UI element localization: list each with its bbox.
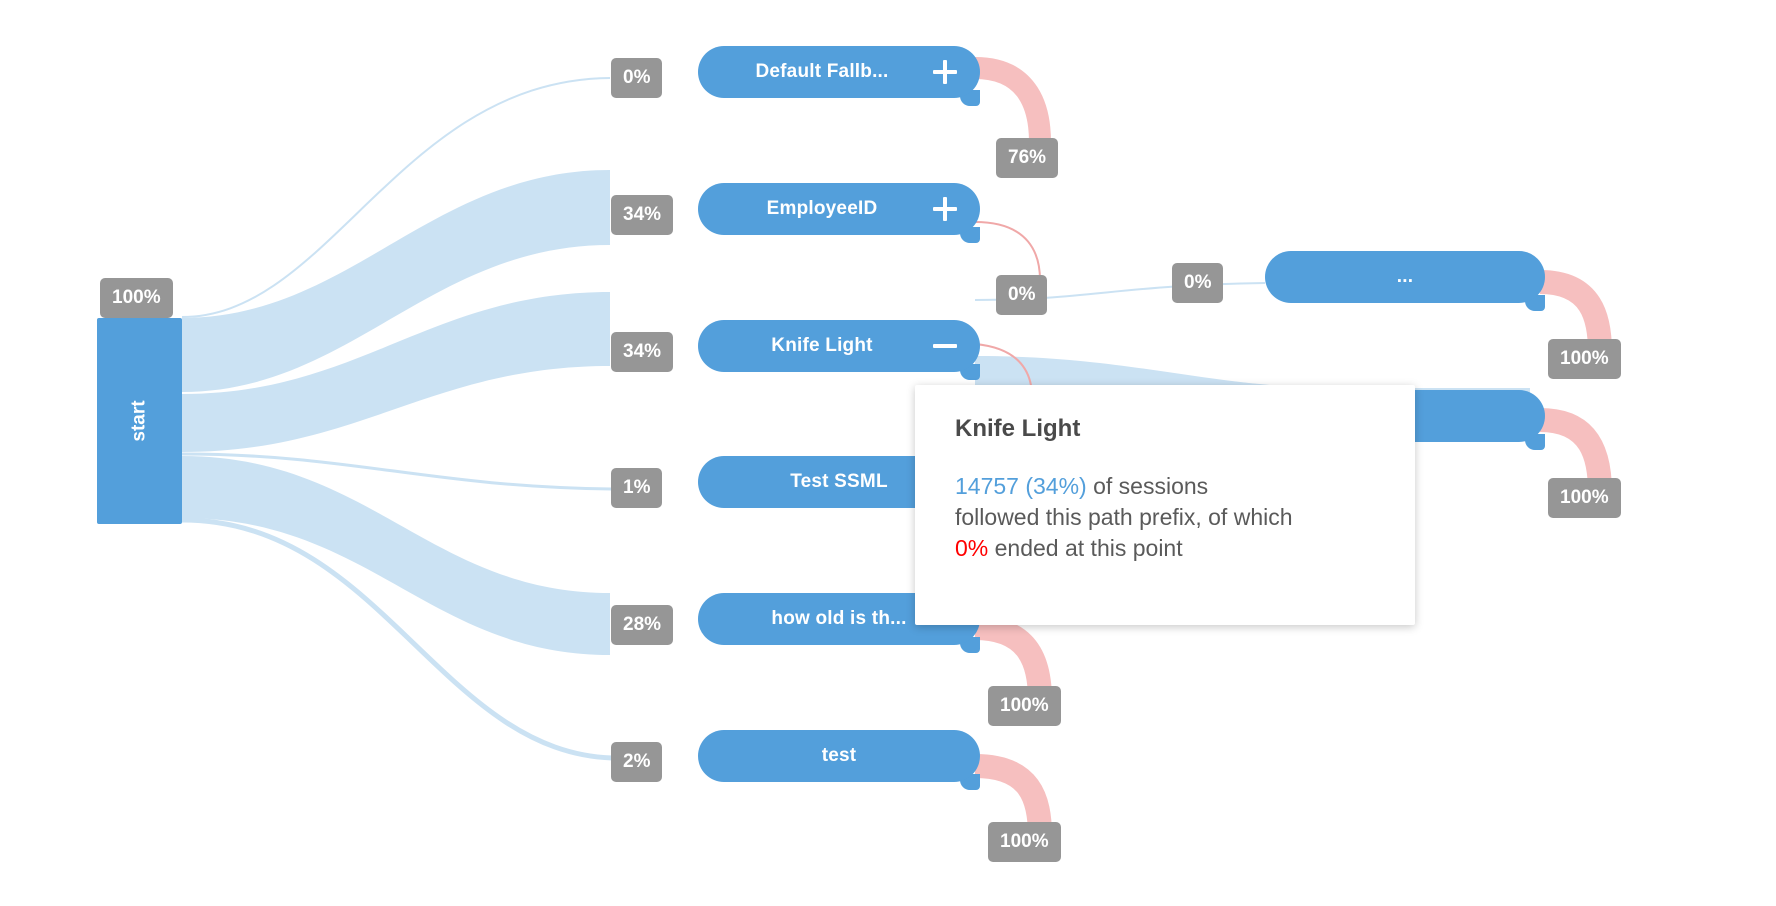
- tooltip-ended-pct: 0%: [955, 535, 988, 561]
- node-knife-light-label: Knife Light: [720, 335, 924, 357]
- badge-default-fallback: 0%: [611, 58, 662, 98]
- dropoff-badge-default-fallback: 76%: [996, 138, 1058, 178]
- dropoff-arc-employeeid: [975, 222, 1040, 280]
- dropoff-badge-level3-node2: 100%: [1548, 478, 1621, 518]
- node-level3-ellipsis-label: ...: [1287, 266, 1523, 288]
- node-start[interactable]: start: [97, 318, 182, 524]
- badge-employeeid: 34%: [611, 195, 673, 235]
- tooltip-metric: 14757 (34%): [955, 473, 1087, 499]
- badge-test-ssml: 1%: [611, 468, 662, 508]
- node-default-fallback[interactable]: Default Fallb...: [698, 46, 980, 98]
- tooltip-body: 14757 (34%) of sessions followed this pa…: [955, 471, 1379, 564]
- node-start-label: start: [129, 400, 151, 441]
- node-employeeid[interactable]: EmployeeID: [698, 183, 980, 235]
- dropoff-badge-employeeid: 0%: [996, 275, 1047, 315]
- tooltip-line3-rest: ended at this point: [988, 535, 1182, 561]
- node-tooltip: Knife Light 14757 (34%) of sessions foll…: [915, 385, 1415, 625]
- badge-knife-light: 34%: [611, 332, 673, 372]
- node-test-label: test: [720, 745, 958, 767]
- plus-icon[interactable]: [932, 59, 958, 85]
- tooltip-line2: followed this path prefix, of which: [955, 504, 1293, 530]
- plus-icon[interactable]: [932, 196, 958, 222]
- tooltip-line1-rest: of sessions: [1087, 473, 1208, 499]
- badge-how-old: 28%: [611, 605, 673, 645]
- sankey-canvas: 100% start 0% Default Fallb... 34% Emplo…: [0, 0, 1776, 906]
- node-test[interactable]: test: [698, 730, 980, 782]
- dropoff-badge-test: 100%: [988, 822, 1061, 862]
- dropoff-badge-level3-node1: 100%: [1548, 339, 1621, 379]
- dropoff-badge-how-old: 100%: [988, 686, 1061, 726]
- node-level3-ellipsis[interactable]: ...: [1265, 251, 1545, 303]
- dropoff-arc-default-fallback: [975, 68, 1040, 142]
- badge-start: 100%: [100, 278, 173, 318]
- badge-level3-node1: 0%: [1172, 263, 1223, 303]
- node-default-fallback-label: Default Fallb...: [720, 61, 924, 83]
- tooltip-title: Knife Light: [955, 415, 1379, 443]
- node-knife-light[interactable]: Knife Light: [698, 320, 980, 372]
- node-employeeid-label: EmployeeID: [720, 198, 924, 220]
- badge-test: 2%: [611, 742, 662, 782]
- minus-icon[interactable]: [932, 333, 958, 359]
